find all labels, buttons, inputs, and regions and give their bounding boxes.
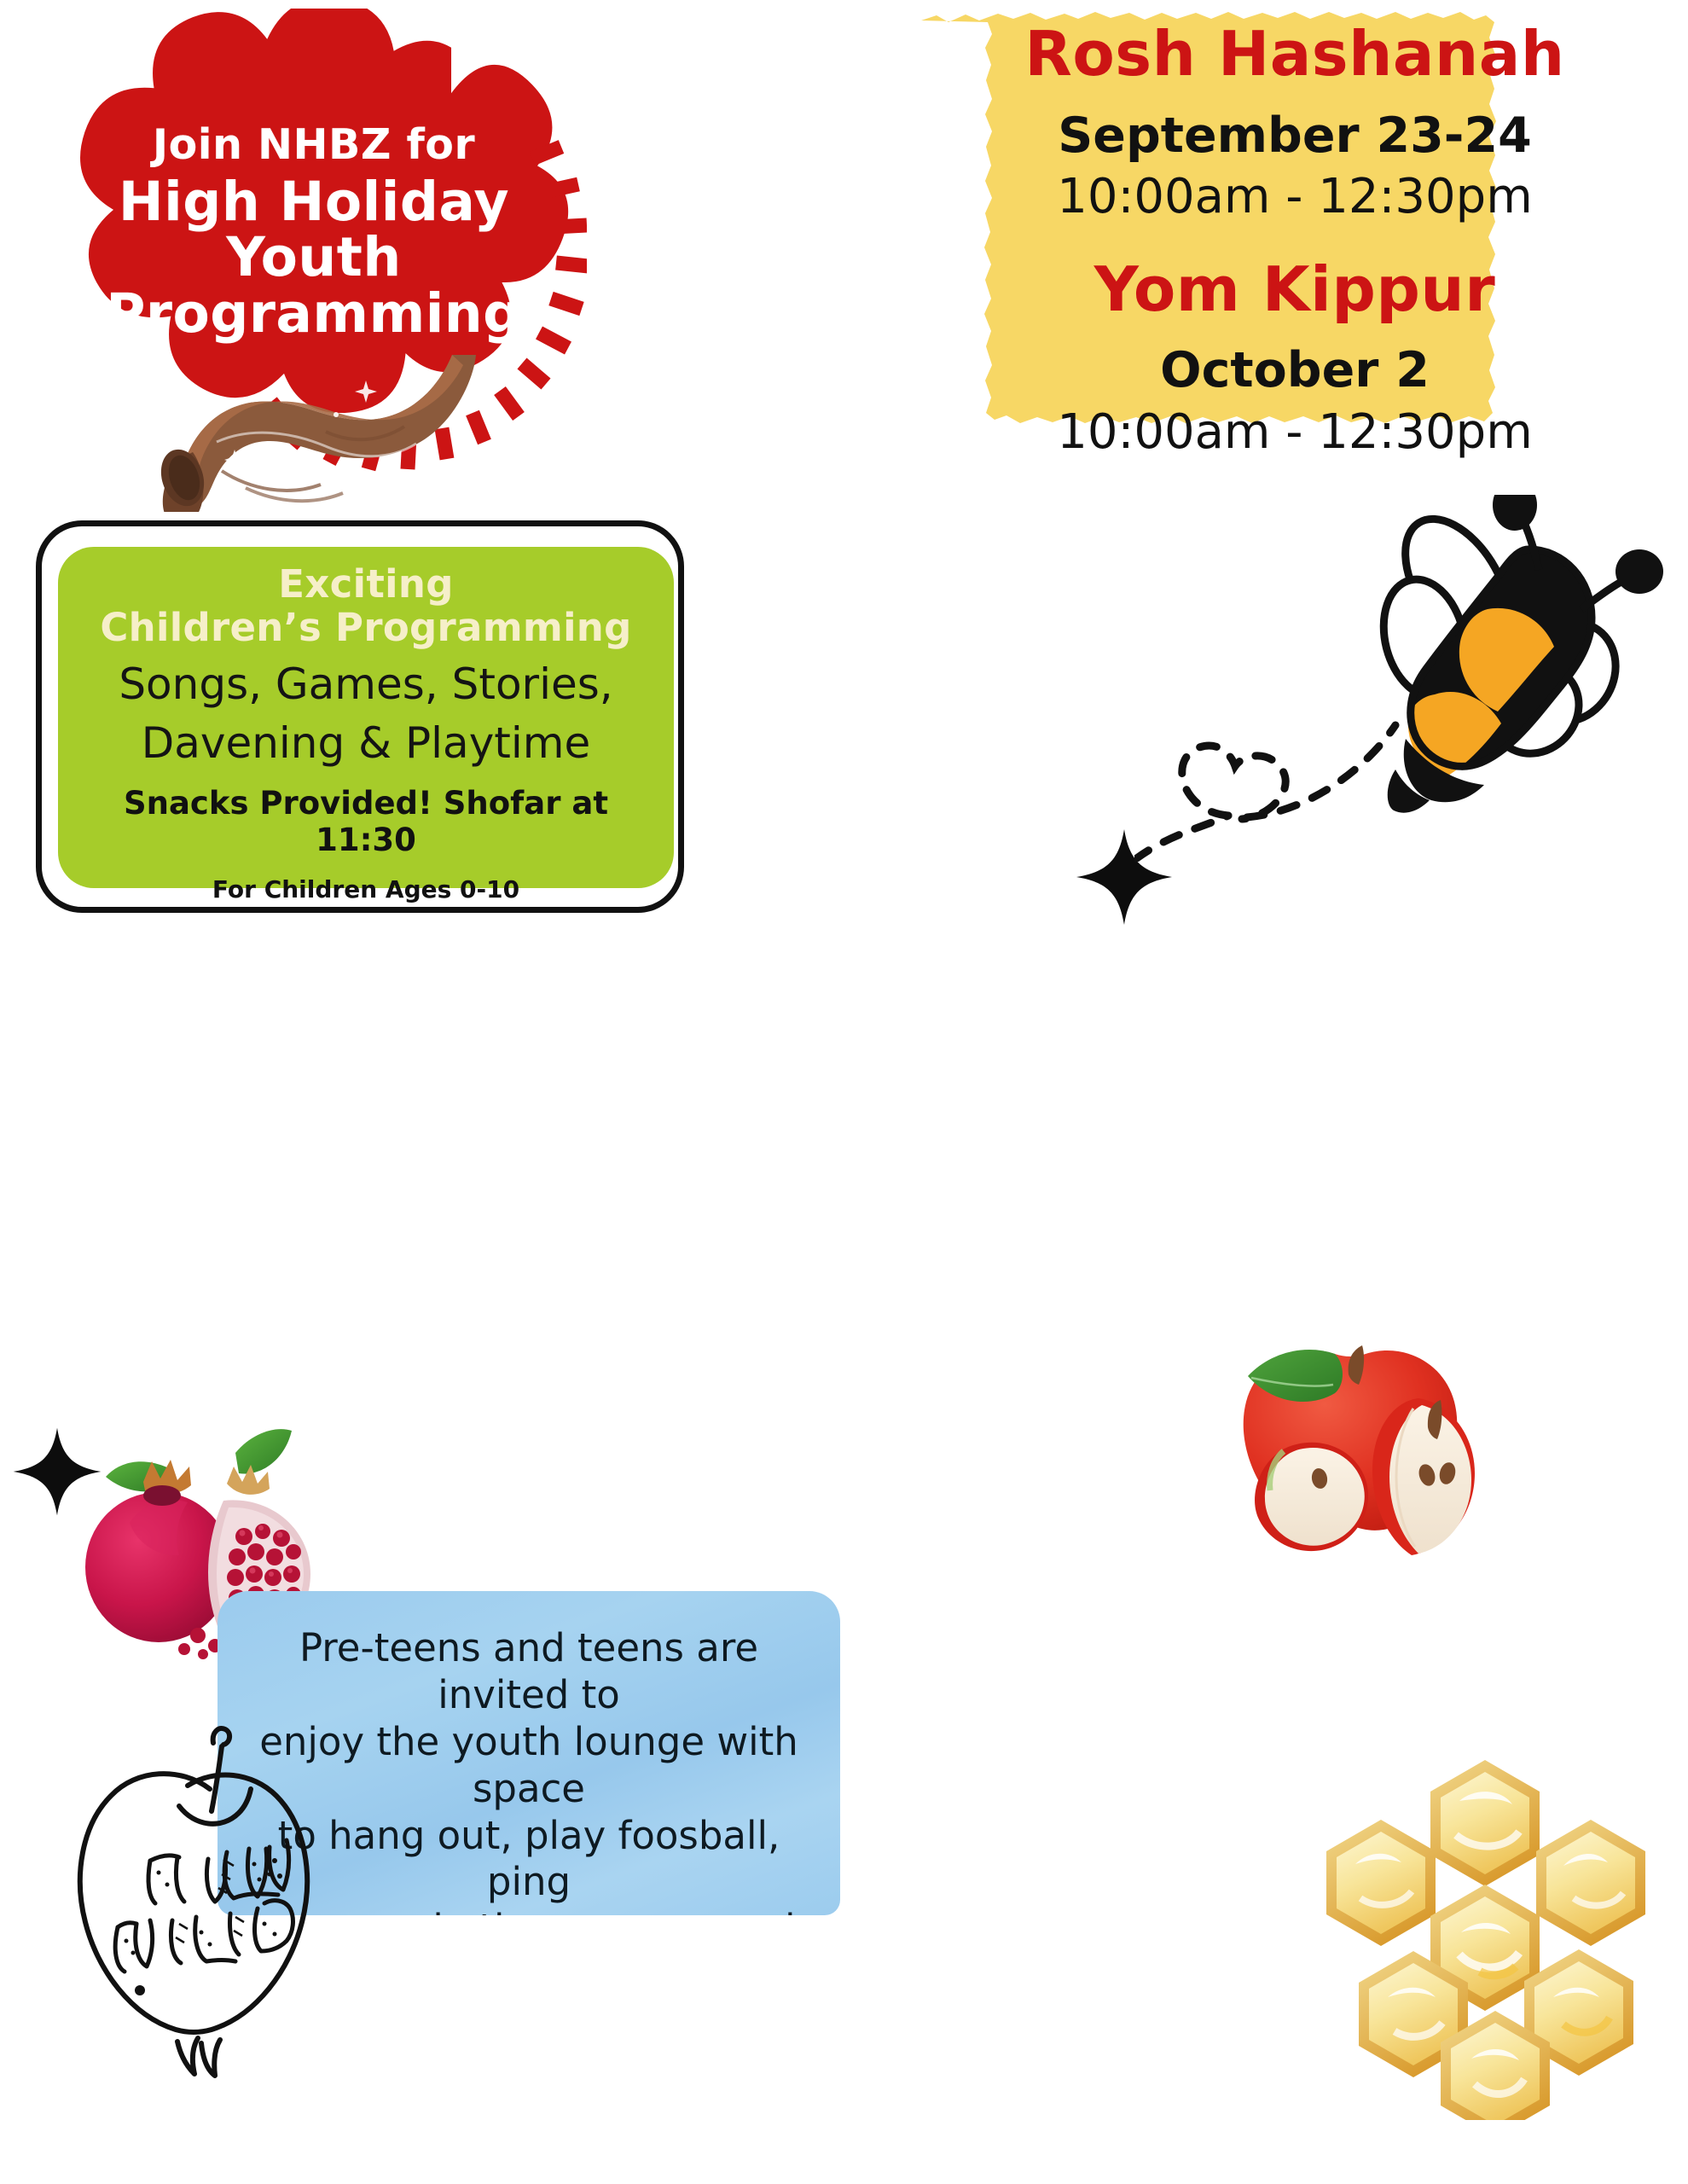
event-date: September 23-24 bbox=[945, 109, 1644, 163]
children-activities-line-1: Songs, Games, Stories, bbox=[77, 660, 655, 709]
event-block-yom-kippur: Yom Kippur October 2 10:00am - 12:30pm bbox=[945, 258, 1644, 459]
shana-tova-apple-doodle-icon bbox=[51, 1693, 333, 2086]
headline-line-2: High Holiday bbox=[101, 174, 527, 230]
children-activities-line-2: Davening & Playtime bbox=[77, 719, 655, 768]
schedule-panel: Rosh Hashanah September 23-24 10:00am - … bbox=[911, 5, 1679, 461]
event-name: Rosh Hashanah bbox=[945, 22, 1644, 87]
headline-text-group: Join NHBZ for High Holiday Youth Program… bbox=[24, 124, 587, 342]
event-block-rosh-hashanah: Rosh Hashanah September 23-24 10:00am - … bbox=[945, 22, 1644, 224]
event-time: 10:00am - 12:30pm bbox=[945, 406, 1644, 459]
flyer-canvas: Join NHBZ for High Holiday Youth Program… bbox=[0, 0, 1688, 2184]
children-snacks-note: Snacks Provided! Shofar at 11:30 bbox=[77, 785, 655, 858]
children-age-range: For Children Ages 0-10 bbox=[77, 875, 655, 903]
honeycomb-icon bbox=[1318, 1745, 1659, 2120]
headline-line-1: Join NHBZ for bbox=[101, 124, 527, 167]
children-programming-box: Exciting Children’s Programming Songs, G… bbox=[58, 547, 674, 888]
apple-icon bbox=[1198, 1310, 1514, 1565]
children-heading-line-2: Children’s Programming bbox=[77, 606, 655, 649]
shofar-icon bbox=[143, 350, 476, 512]
event-date: October 2 bbox=[945, 344, 1644, 398]
schedule-content: Rosh Hashanah September 23-24 10:00am - … bbox=[911, 5, 1679, 461]
children-heading-line-1: Exciting bbox=[77, 562, 655, 606]
event-time: 10:00am - 12:30pm bbox=[945, 171, 1644, 224]
headline-line-3: Youth bbox=[101, 229, 527, 286]
bee-icon bbox=[1134, 495, 1680, 862]
event-name: Yom Kippur bbox=[945, 258, 1644, 322]
headline-line-4: Programming bbox=[101, 286, 527, 342]
